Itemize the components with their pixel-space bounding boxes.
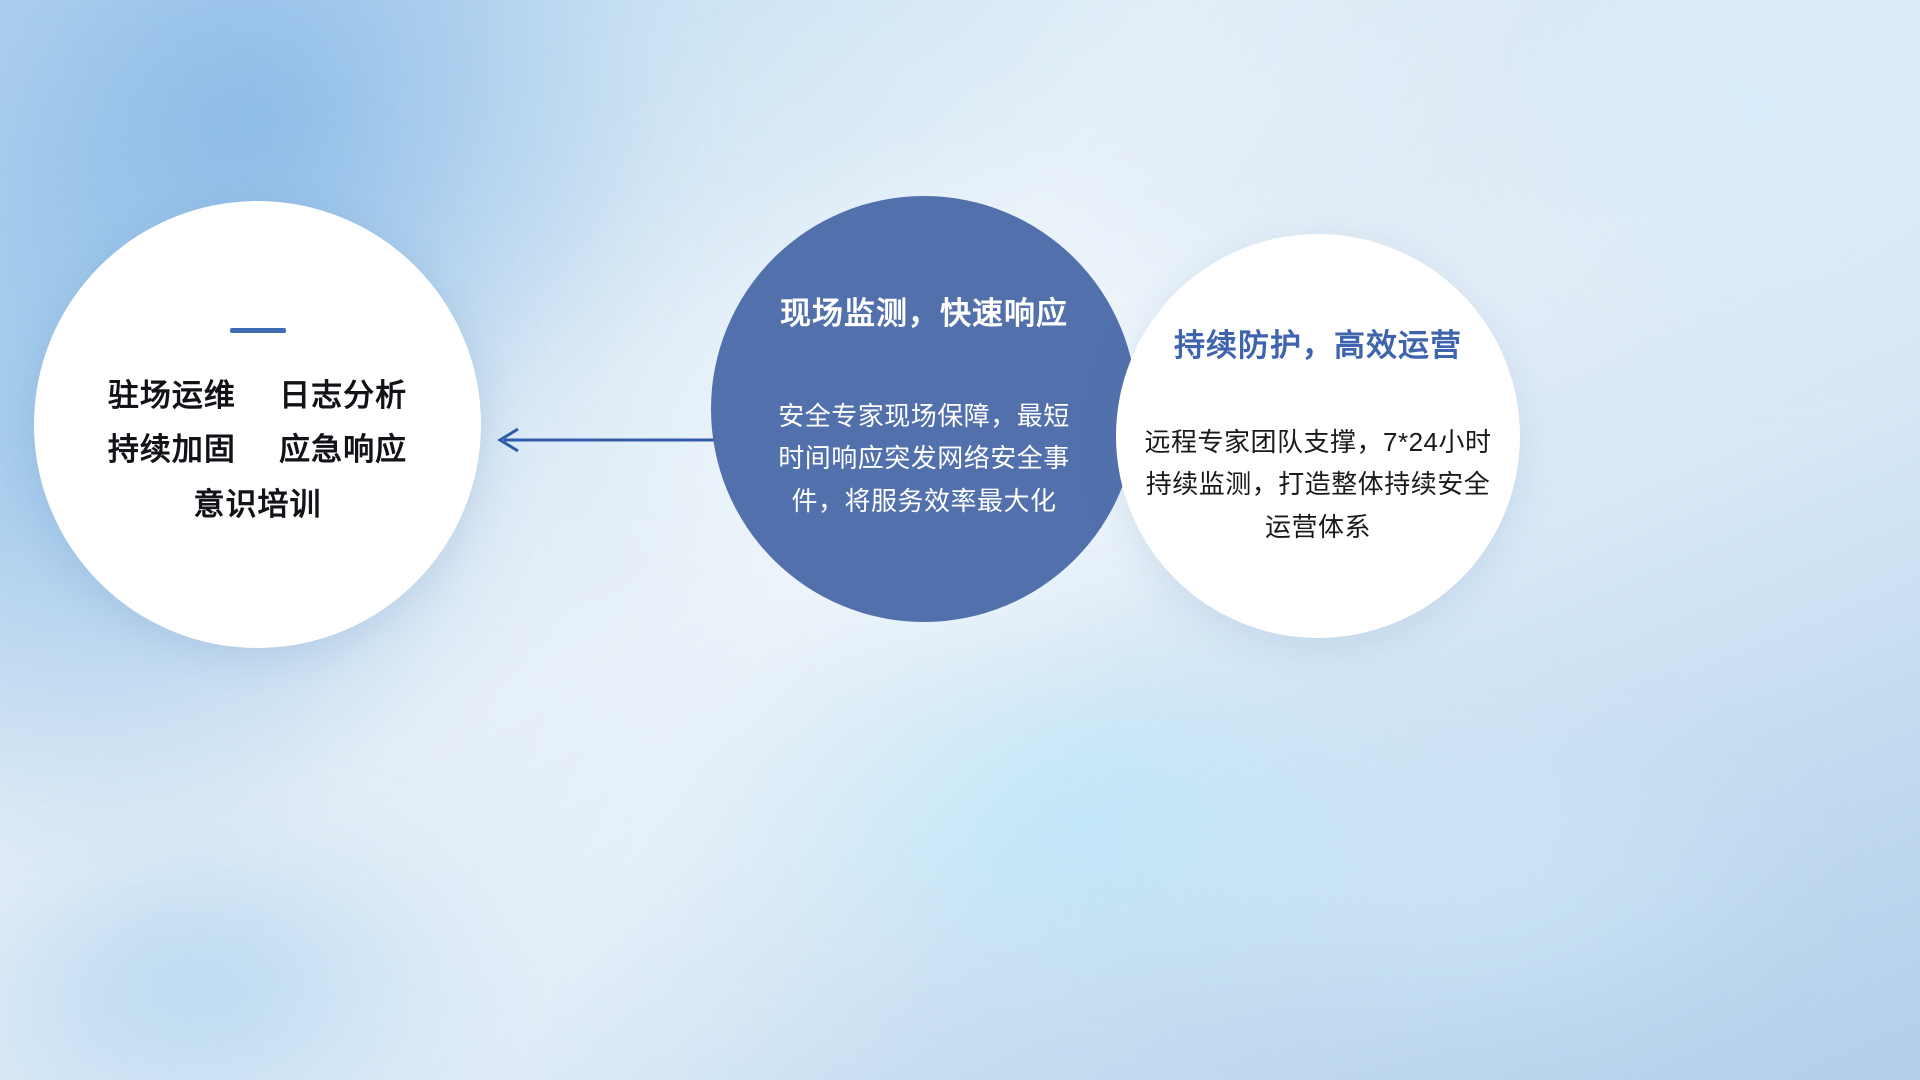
node-capability-list[interactable]: 驻场运维 日志分析 持续加固 应急响应 意识培训 [34, 201, 481, 648]
capability-row: 意识培训 [194, 489, 322, 522]
connector-arrow [478, 418, 738, 462]
capability-row: 持续加固 应急响应 [108, 434, 407, 467]
capability-line-group: 驻场运维 日志分析 持续加固 应急响应 意识培训 [108, 380, 407, 522]
capability-label: 意识培训 [194, 487, 322, 522]
node-onsite-monitoring[interactable]: 现场监测，快速响应 安全专家现场保障，最短时间响应突发网络安全事件，将服务效率最… [711, 196, 1137, 622]
node-body: 安全专家现场保障，最短时间响应突发网络安全事件，将服务效率最大化 [774, 395, 1074, 521]
node-title: 持续防护，高效运营 [1174, 320, 1462, 365]
capability-label: 驻场运维 [108, 378, 236, 413]
slide-canvas: 驻场运维 日志分析 持续加固 应急响应 意识培训 现场监测，快速响应 安全专家现… [0, 0, 1920, 1080]
capability-label: 应急响应 [279, 432, 407, 467]
divider-dash [230, 328, 286, 333]
capability-label: 日志分析 [279, 378, 407, 413]
capability-label: 持续加固 [108, 432, 236, 467]
node-title: 现场监测，快速响应 [780, 288, 1068, 333]
capability-row: 驻场运维 日志分析 [108, 380, 407, 413]
node-continuous-protection[interactable]: 持续防护，高效运营 远程专家团队支撑，7*24小时持续监测，打造整体持续安全运营… [1116, 234, 1520, 638]
node-body: 远程专家团队支撑，7*24小时持续监测，打造整体持续安全运营体系 [1144, 421, 1492, 547]
